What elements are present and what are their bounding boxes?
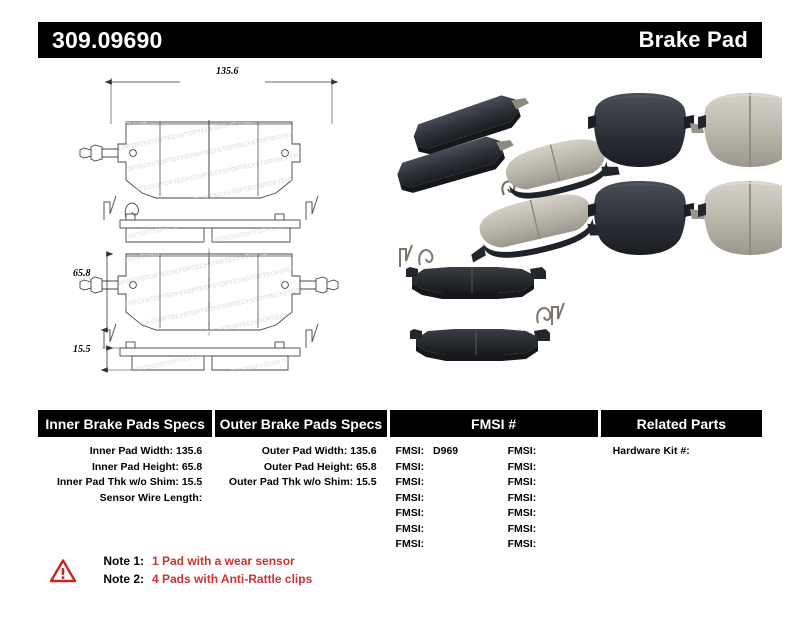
fmsi-row: FMSI: <box>396 506 494 522</box>
fmsi-row: FMSI: <box>396 491 494 507</box>
fmsi-label: FMSI: <box>508 445 537 457</box>
specifications-table: Inner Brake Pads Specs Outer Brake Pads … <box>38 410 762 553</box>
brake-pad-line-drawing: STOPTECH <box>60 62 400 382</box>
fmsi-label: FMSI: <box>396 445 425 457</box>
spec-sheet-page: 309.09690 Brake Pad STOPTECH <box>0 0 800 619</box>
note-text: 1 Pad with a wear sensor <box>152 552 295 570</box>
fmsi-row: FMSI: <box>396 537 494 553</box>
spec-value: 135.6 <box>350 445 376 457</box>
note-label: Note 2: <box>88 570 144 588</box>
spec-label: Outer Pad Width: <box>262 445 348 457</box>
spec-label: Sensor Wire Length: <box>100 492 203 504</box>
header-bar: 309.09690 Brake Pad <box>38 22 762 58</box>
part-number: 309.09690 <box>52 27 163 54</box>
spec-row: Outer Pad Thk w/o Shim: 15.5 <box>215 475 386 491</box>
spec-value: 15.5 <box>356 476 376 488</box>
fmsi-label: FMSI: <box>396 492 425 504</box>
spec-value: 15.5 <box>182 476 202 488</box>
related-part-label: Hardware Kit #: <box>613 445 690 457</box>
fmsi-column-left: FMSI: D969 FMSI: FMSI: FMSI: <box>390 444 494 553</box>
dimension-width-label: 135.6 <box>216 66 239 77</box>
spec-label: Inner Pad Height: <box>92 461 179 473</box>
note-row: Note 1: 1 Pad with a wear sensor <box>88 552 312 570</box>
fmsi-label: FMSI: <box>508 461 537 473</box>
spec-label: Inner Pad Thk w/o Shim: <box>57 476 179 488</box>
fmsi-row: FMSI: <box>508 522 598 538</box>
note-label: Note 1: <box>88 552 144 570</box>
dimension-thickness-label: 15.5 <box>73 344 91 355</box>
spec-label: Outer Pad Height: <box>264 461 353 473</box>
fmsi-row: FMSI: <box>508 460 598 476</box>
fmsi-row: FMSI: <box>508 475 598 491</box>
spec-row: Inner Pad Height: 65.8 <box>38 460 212 476</box>
column-header-related-parts: Related Parts <box>601 410 762 437</box>
spec-label: Inner Pad Width: <box>90 445 173 457</box>
note-text: 4 Pads with Anti-Rattle clips <box>152 570 312 588</box>
fmsi-label: FMSI: <box>396 507 425 519</box>
table-header-row: Inner Brake Pads Specs Outer Brake Pads … <box>38 410 762 437</box>
fmsi-row: FMSI: <box>508 491 598 507</box>
fmsi-label: FMSI: <box>396 523 425 535</box>
fmsi-row: FMSI: <box>508 537 598 553</box>
spec-row: Outer Pad Width: 135.6 <box>215 444 386 460</box>
fmsi-row: FMSI: <box>396 475 494 491</box>
fmsi-label: FMSI: <box>508 507 537 519</box>
notes-list: Note 1: 1 Pad with a wear sensor Note 2:… <box>88 552 312 588</box>
fmsi-cell: FMSI: D969 FMSI: FMSI: FMSI: <box>390 444 598 553</box>
note-row: Note 2: 4 Pads with Anti-Rattle clips <box>88 570 312 588</box>
technical-drawing: STOPTECH <box>60 62 400 382</box>
column-header-fmsi: FMSI # <box>390 410 598 437</box>
spec-value: 65.8 <box>182 461 202 473</box>
fmsi-row: FMSI: D969 <box>396 444 494 460</box>
fmsi-label: FMSI: <box>508 523 537 535</box>
fmsi-row: FMSI: <box>396 522 494 538</box>
warning-triangle-icon <box>50 559 76 583</box>
fmsi-value: D969 <box>433 445 458 457</box>
column-header-outer-specs: Outer Brake Pads Specs <box>215 410 386 437</box>
inner-specs-cell: Inner Pad Width: 135.6 Inner Pad Height:… <box>38 444 212 553</box>
fmsi-label: FMSI: <box>396 476 425 488</box>
page-title: Brake Pad <box>639 27 748 53</box>
fmsi-label: FMSI: <box>396 538 425 550</box>
spec-row: Inner Pad Width: 135.6 <box>38 444 212 460</box>
fmsi-label: FMSI: <box>396 461 425 473</box>
spec-row: Sensor Wire Length: <box>38 491 212 507</box>
dimension-height-label: 65.8 <box>73 268 91 279</box>
brake-pad-photographs <box>392 85 782 375</box>
spec-row: Inner Pad Thk w/o Shim: 15.5 <box>38 475 212 491</box>
fmsi-column-right: FMSI: FMSI: FMSI: FMSI: <box>494 444 598 553</box>
related-part-row: Hardware Kit #: <box>601 444 762 460</box>
spec-value: 65.8 <box>356 461 376 473</box>
table-body-row: Inner Pad Width: 135.6 Inner Pad Height:… <box>38 444 762 553</box>
related-parts-cell: Hardware Kit #: <box>601 444 762 553</box>
product-photos <box>392 85 782 375</box>
fmsi-label: FMSI: <box>508 476 537 488</box>
spec-row: Outer Pad Height: 65.8 <box>215 460 386 476</box>
spec-value: 135.6 <box>176 445 202 457</box>
notes-section: Note 1: 1 Pad with a wear sensor Note 2:… <box>50 552 312 588</box>
fmsi-row: FMSI: <box>396 460 494 476</box>
fmsi-row: FMSI: <box>508 506 598 522</box>
fmsi-label: FMSI: <box>508 492 537 504</box>
column-header-inner-specs: Inner Brake Pads Specs <box>38 410 212 437</box>
spec-label: Outer Pad Thk w/o Shim: <box>229 476 353 488</box>
fmsi-row: FMSI: <box>508 444 598 460</box>
fmsi-label: FMSI: <box>508 538 537 550</box>
outer-specs-cell: Outer Pad Width: 135.6 Outer Pad Height:… <box>215 444 386 553</box>
